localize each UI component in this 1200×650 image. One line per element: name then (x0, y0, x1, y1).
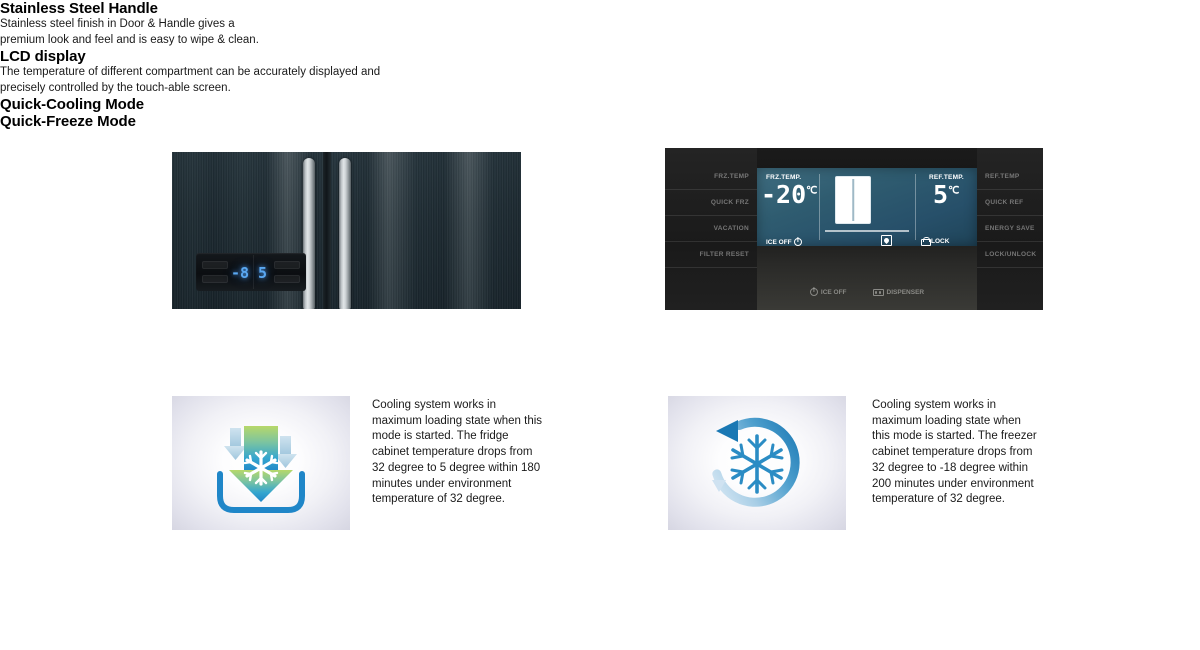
touchkey-quick-frz[interactable]: QUICK FRZ (665, 190, 757, 216)
handle-caption: Stainless steel finish in Door & Handle … (0, 17, 266, 48)
door-control-panel[interactable]: -8 5 (196, 253, 306, 291)
quick-cooling-description: Cooling system works in maximum loading … (372, 398, 548, 508)
touchkey-energy-save[interactable]: ENERGY SAVE (977, 216, 1043, 242)
lcd-fridge-value: 5 (933, 180, 948, 209)
door-panel-button-3[interactable] (274, 261, 300, 269)
lcd-freezer-temperature: -20℃ (761, 182, 817, 207)
lcd-door-graphic (835, 176, 871, 224)
door-panel-fridge-value: 5 (258, 266, 267, 281)
power-icon (794, 238, 802, 246)
door-panel-divider (253, 255, 254, 289)
lcd-fridge-unit: ℃ (948, 186, 959, 197)
quick-cooling-icon-tile (172, 396, 350, 530)
quick-freeze-title: Quick-Freeze Mode (0, 113, 1200, 130)
lock-icon (921, 237, 929, 246)
lcd-left-bezel: FRZ.TEMP QUICK FRZ VACATION FILTER RESET (665, 148, 757, 310)
quick-freeze-icon (668, 396, 846, 530)
power-icon (810, 288, 818, 296)
quick-cooling-title: Quick-Cooling Mode (0, 96, 1200, 113)
lcd-lock-label: LOCK (931, 238, 949, 245)
lcd-fridge-temperature: 5℃ (933, 182, 959, 207)
arrow-head (716, 420, 738, 442)
feature-page: Stainless Steel Handle -8 5 Stainless st… (0, 0, 1200, 650)
door-panel-button-2[interactable] (202, 275, 228, 283)
touchkey-lock-unlock[interactable]: LOCK/UNLOCK (977, 242, 1043, 268)
door-seam (323, 152, 331, 309)
door-panel-button-4[interactable] (274, 275, 300, 283)
lcd-footer-keys: ICE OFF DISPENSER (757, 288, 977, 296)
touchkey-quick-ref[interactable]: QUICK REF (977, 190, 1043, 216)
lcd-divider-right (915, 174, 916, 240)
lcd-section-title: LCD display (0, 48, 1200, 65)
lcd-freezer-value: -20 (761, 180, 806, 209)
side-arrow-left (224, 428, 247, 460)
lcd-caption: The temperature of different compartment… (0, 65, 395, 96)
lcd-screen[interactable]: FRZ.TEMP. -20℃ REF.TEMP. 5℃ ICE OFF LOCK (757, 168, 977, 246)
lcd-ice-off-label: ICE OFF (766, 239, 792, 246)
touchkey-filter-reset[interactable]: FILTER RESET (665, 242, 757, 268)
lcd-left-touchkeys: FRZ.TEMP QUICK FRZ VACATION FILTER RESET (665, 164, 757, 268)
lcd-door-underline (825, 230, 909, 232)
snowflake-icon (732, 436, 782, 492)
lcd-display-photo: FRZ.TEMP QUICK FRZ VACATION FILTER RESET… (665, 148, 1043, 310)
lcd-right-touchkeys: REF.TEMP QUICK REF ENERGY SAVE LOCK/UNLO… (977, 164, 1043, 268)
lcd-freezer-unit: ℃ (806, 186, 817, 197)
door-panel-button-1[interactable] (202, 261, 228, 269)
touchkey-frz-temp[interactable]: FRZ.TEMP (665, 164, 757, 190)
quick-freeze-description: Cooling system works in maximum loading … (872, 398, 1042, 508)
lcd-divider-left (819, 174, 820, 240)
footer-ice-off-label: ICE OFF (821, 289, 847, 296)
stainless-steel-handle-photo: -8 5 (172, 152, 521, 309)
water-dispenser-icon (881, 235, 892, 246)
footer-key-ice-off[interactable]: ICE OFF (810, 288, 847, 296)
door-panel-freezer-value: -8 (231, 266, 249, 281)
touchkey-ref-temp[interactable]: REF.TEMP (977, 164, 1043, 190)
lcd-right-bezel: REF.TEMP QUICK REF ENERGY SAVE LOCK/UNLO… (977, 148, 1043, 310)
touchkey-vacation[interactable]: VACATION (665, 216, 757, 242)
footer-key-dispenser[interactable]: DISPENSER (873, 288, 925, 296)
lcd-lock-indicator: LOCK (921, 237, 949, 246)
lcd-ice-off-indicator: ICE OFF (766, 238, 802, 246)
footer-dispenser-label: DISPENSER (887, 289, 925, 296)
handle-bar-right (339, 158, 351, 309)
dispenser-icon (873, 289, 884, 296)
handle-section-title: Stainless Steel Handle (0, 0, 1200, 17)
quick-freeze-icon-tile (668, 396, 846, 530)
quick-cooling-icon (172, 396, 350, 530)
